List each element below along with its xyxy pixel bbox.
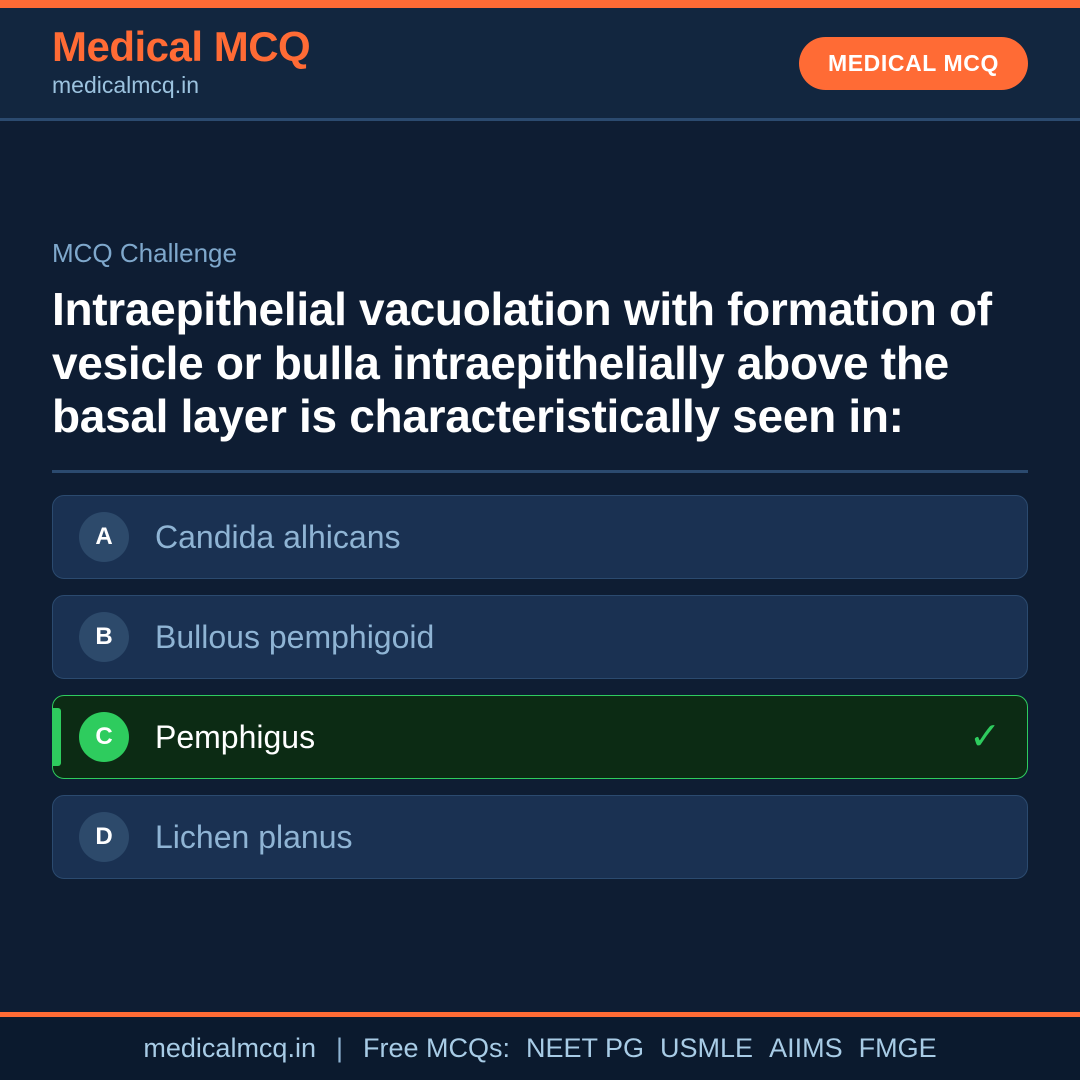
question-divider (52, 470, 1028, 473)
option-letter-badge: B (79, 612, 129, 662)
footer-label: Free MCQs: (363, 1033, 510, 1064)
header: Medical MCQ medicalmcq.in MEDICAL MCQ (0, 8, 1080, 121)
option-letter-badge: C (79, 712, 129, 762)
option-c[interactable]: CPemphigus✓ (52, 695, 1028, 779)
footer-exam-list: NEET PGUSMLEAIIMSFMGE (510, 1033, 937, 1064)
option-letter-badge: A (79, 512, 129, 562)
footer-exam-neet-pg[interactable]: NEET PG (526, 1033, 644, 1063)
options-list: ACandida alhicansBBullous pemphigoidCPem… (52, 495, 1028, 879)
main-content: MCQ Challenge Intraepithelial vacuolatio… (0, 121, 1080, 1012)
mcq-card: Medical MCQ medicalmcq.in MEDICAL MCQ MC… (0, 0, 1080, 1080)
option-label: Pemphigus (155, 718, 955, 756)
option-a[interactable]: ACandida alhicans (52, 495, 1028, 579)
footer-inner: medicalmcq.in | Free MCQs: NEET PGUSMLEA… (143, 1033, 936, 1064)
footer: medicalmcq.in | Free MCQs: NEET PGUSMLEA… (0, 1012, 1080, 1080)
brand-title: Medical MCQ (52, 25, 310, 70)
footer-exam-fmge[interactable]: FMGE (859, 1033, 937, 1063)
brand-subtitle: medicalmcq.in (52, 71, 310, 101)
header-badge: MEDICAL MCQ (799, 37, 1028, 90)
option-b[interactable]: BBullous pemphigoid (52, 595, 1028, 679)
checkmark-icon: ✓ (969, 718, 1001, 756)
brand-block: Medical MCQ medicalmcq.in (52, 25, 310, 101)
option-label: Bullous pemphigoid (155, 618, 987, 656)
question-text: Intraepithelial vacuolation with formati… (52, 283, 1028, 443)
eyebrow-label: MCQ Challenge (52, 238, 1028, 269)
option-label: Lichen planus (155, 818, 987, 856)
footer-separator: | (336, 1033, 343, 1064)
option-letter-badge: D (79, 812, 129, 862)
option-d[interactable]: DLichen planus (52, 795, 1028, 879)
top-accent-bar (0, 0, 1080, 8)
option-label: Candida alhicans (155, 518, 987, 556)
footer-exam-aiims[interactable]: AIIMS (769, 1033, 843, 1063)
footer-site-link[interactable]: medicalmcq.in (143, 1033, 316, 1064)
footer-exam-usmle[interactable]: USMLE (660, 1033, 753, 1063)
